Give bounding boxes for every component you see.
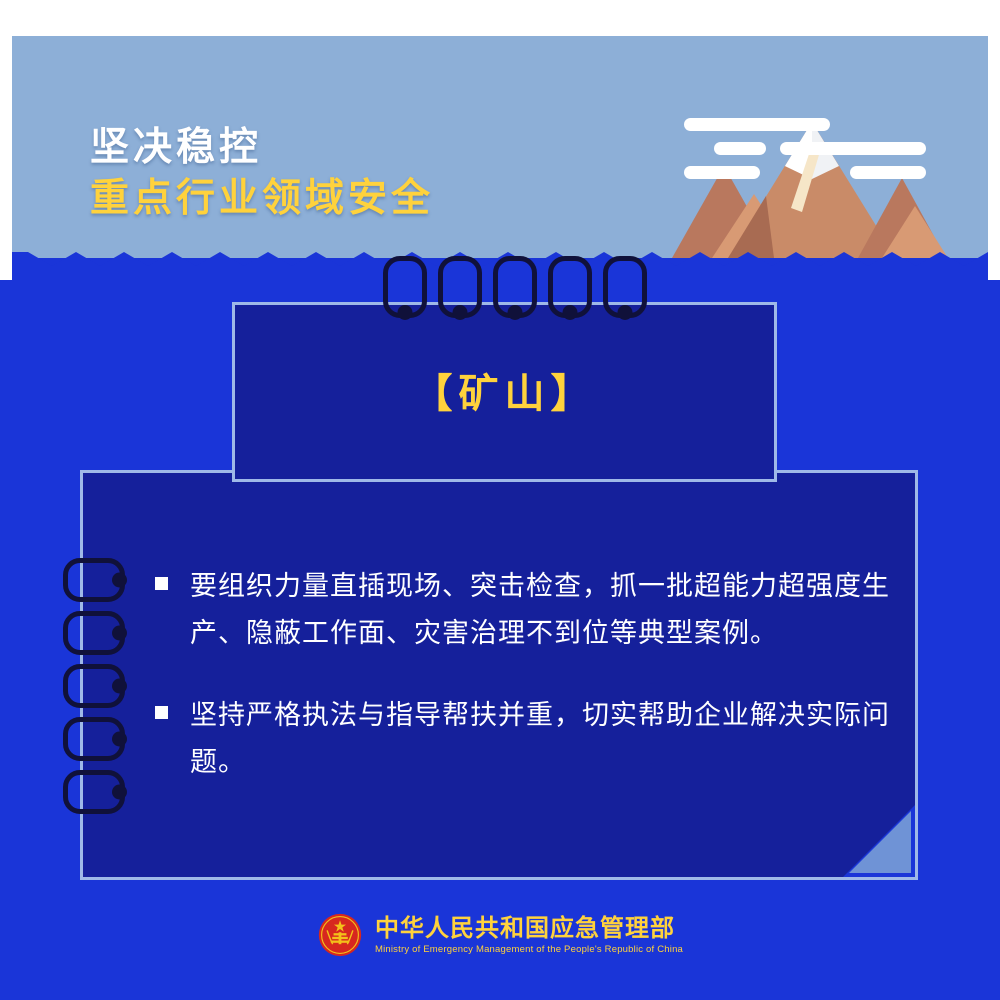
card-fold-inner: [849, 811, 911, 873]
list-item: 坚持严格执法与指导帮扶并重，切实帮助企业解决实际问题。: [155, 692, 895, 787]
page-margin-top: [0, 0, 1000, 36]
section-title-mine: 【矿山】: [235, 361, 774, 419]
poster-page: 坚决稳控 重点行业领域安全 【矿山】 要组织力量直插现场、突击检查，抓一批超能力…: [0, 0, 1000, 1000]
bullet-marker-icon: [155, 577, 168, 590]
binder-ring-top-2: [438, 256, 482, 318]
binder-ring-left-5: [63, 770, 125, 814]
bullet-text: 要组织力量直插现场、突击检查，抓一批超能力超强度生产、隐蔽工作面、灾害治理不到位…: [190, 563, 890, 658]
cloud-stripe-1: [684, 118, 830, 131]
binder-ring-left-4: [63, 717, 125, 761]
page-margin-right: [988, 0, 1000, 280]
header-title-line1: 坚决稳控: [90, 124, 434, 173]
bullet-text: 坚持严格执法与指导帮扶并重，切实帮助企业解决实际问题。: [190, 692, 890, 787]
header-banner: 坚决稳控 重点行业领域安全: [12, 36, 988, 258]
footer-text-block: 中华人民共和国应急管理部 Ministry of Emergency Manag…: [375, 915, 683, 956]
cloud-stripe-2: [714, 142, 766, 155]
footer-organization: 中华人民共和国应急管理部 Ministry of Emergency Manag…: [0, 900, 1000, 970]
binder-ring-left-1: [63, 558, 125, 602]
header-title-line2: 重点行业领域安全: [90, 173, 434, 226]
binder-ring-top-3: [493, 256, 537, 318]
bullet-list: 要组织力量直插现场、突击检查，抓一批超能力超强度生产、隐蔽工作面、灾害治理不到位…: [155, 563, 895, 820]
cloud-stripe-5: [850, 166, 926, 179]
cloud-stripe-3: [780, 142, 926, 155]
binder-ring-top-5: [603, 256, 647, 318]
cloud-stripe-4: [684, 166, 760, 179]
national-emblem-icon: [317, 912, 363, 958]
binder-ring-top-4: [548, 256, 592, 318]
footer-org-cn: 中华人民共和国应急管理部: [375, 915, 683, 943]
bullet-marker-icon: [155, 706, 168, 719]
binder-ring-left-2: [63, 611, 125, 655]
page-margin-left: [0, 0, 12, 280]
binder-ring-top-1: [383, 256, 427, 318]
section-card-mine: 【矿山】: [232, 302, 777, 482]
list-item: 要组织力量直插现场、突击检查，抓一批超能力超强度生产、隐蔽工作面、灾害治理不到位…: [155, 563, 895, 658]
binder-ring-left-3: [63, 664, 125, 708]
header-title: 坚决稳控 重点行业领域安全: [90, 124, 434, 225]
footer-org-en: Ministry of Emergency Management of the …: [375, 944, 683, 955]
